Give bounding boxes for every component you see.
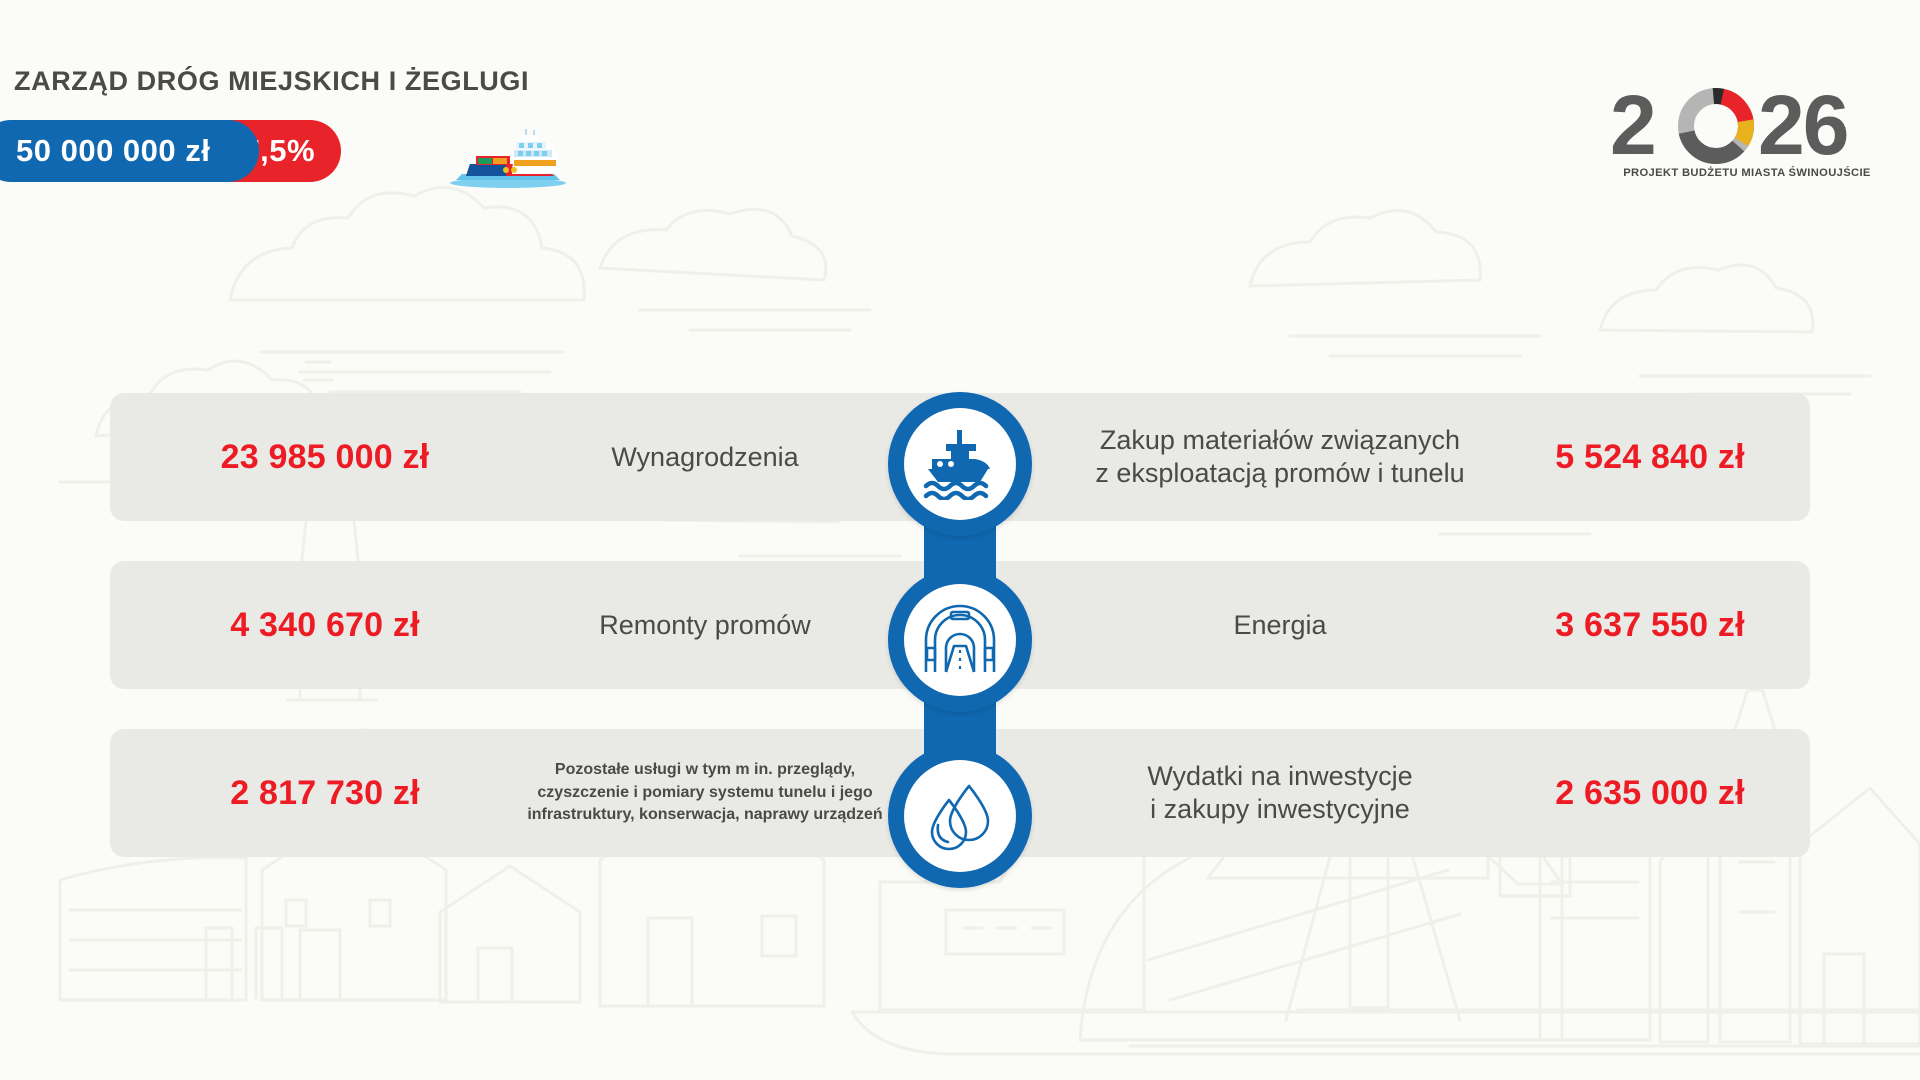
chain-node-ferry xyxy=(888,392,1032,536)
category-label: Wynagrodzenia xyxy=(611,441,798,474)
row-left-amount-cell: 4 340 670 zł xyxy=(160,561,490,689)
category-label: Remonty promów xyxy=(599,609,811,642)
amount-value: 23 985 000 zł xyxy=(221,438,430,477)
amount-value: 5 524 840 zł xyxy=(1555,438,1745,477)
row-left-amount-cell: 23 985 000 zł xyxy=(160,393,490,521)
amount-value: 2 635 000 zł xyxy=(1555,774,1745,813)
chain-node-tunnel xyxy=(888,568,1032,712)
row-right-label-cell: Energia xyxy=(1060,561,1500,689)
row-left-label-cell: Pozostałe usługi w tym m in. przeglądy, … xyxy=(490,729,920,857)
row-right-amount-cell: 3 637 550 zł xyxy=(1500,561,1800,689)
icon-chain xyxy=(888,392,1032,888)
budget-badge: 50 000 000 zł 7,5% xyxy=(0,120,341,182)
row-left-label-cell: Remonty promów xyxy=(490,561,920,689)
page-title: ZARZĄD DRÓG MIEJSKICH I ŻEGLUGI xyxy=(14,66,529,97)
category-label: Energia xyxy=(1233,609,1326,642)
ferry-illustration xyxy=(448,126,568,190)
tunnel-road-icon xyxy=(922,604,998,676)
amount-value: 4 340 670 zł xyxy=(230,606,420,645)
header: ZARZĄD DRÓG MIEJSKICH I ŻEGLUGI 50 000 0… xyxy=(0,0,1920,230)
row-right-label-cell: Wydatki na inwestycje i zakupy inwestycy… xyxy=(1060,729,1500,857)
category-label: Pozostałe usługi w tym m in. przeglądy, … xyxy=(527,759,882,827)
category-label: Zakup materiałów związanych z eksploatac… xyxy=(1095,424,1464,490)
water-drops-icon xyxy=(924,780,996,852)
ferry-boat-icon xyxy=(920,428,1000,500)
row-left-amount-cell: 2 817 730 zł xyxy=(160,729,490,857)
amount-value: 3 637 550 zł xyxy=(1555,606,1745,645)
category-label: Wydatki na inwestycje i zakupy inwestycy… xyxy=(1147,760,1412,826)
row-right-amount-cell: 2 635 000 zł xyxy=(1500,729,1800,857)
row-right-label-cell: Zakup materiałów związanych z eksploatac… xyxy=(1060,393,1500,521)
amount-value: 2 817 730 zł xyxy=(230,774,420,813)
badge-amount: 50 000 000 zł xyxy=(0,120,228,182)
row-left-label-cell: Wynagrodzenia xyxy=(490,393,920,521)
row-right-amount-cell: 5 524 840 zł xyxy=(1500,393,1800,521)
chain-node-water xyxy=(888,744,1032,888)
